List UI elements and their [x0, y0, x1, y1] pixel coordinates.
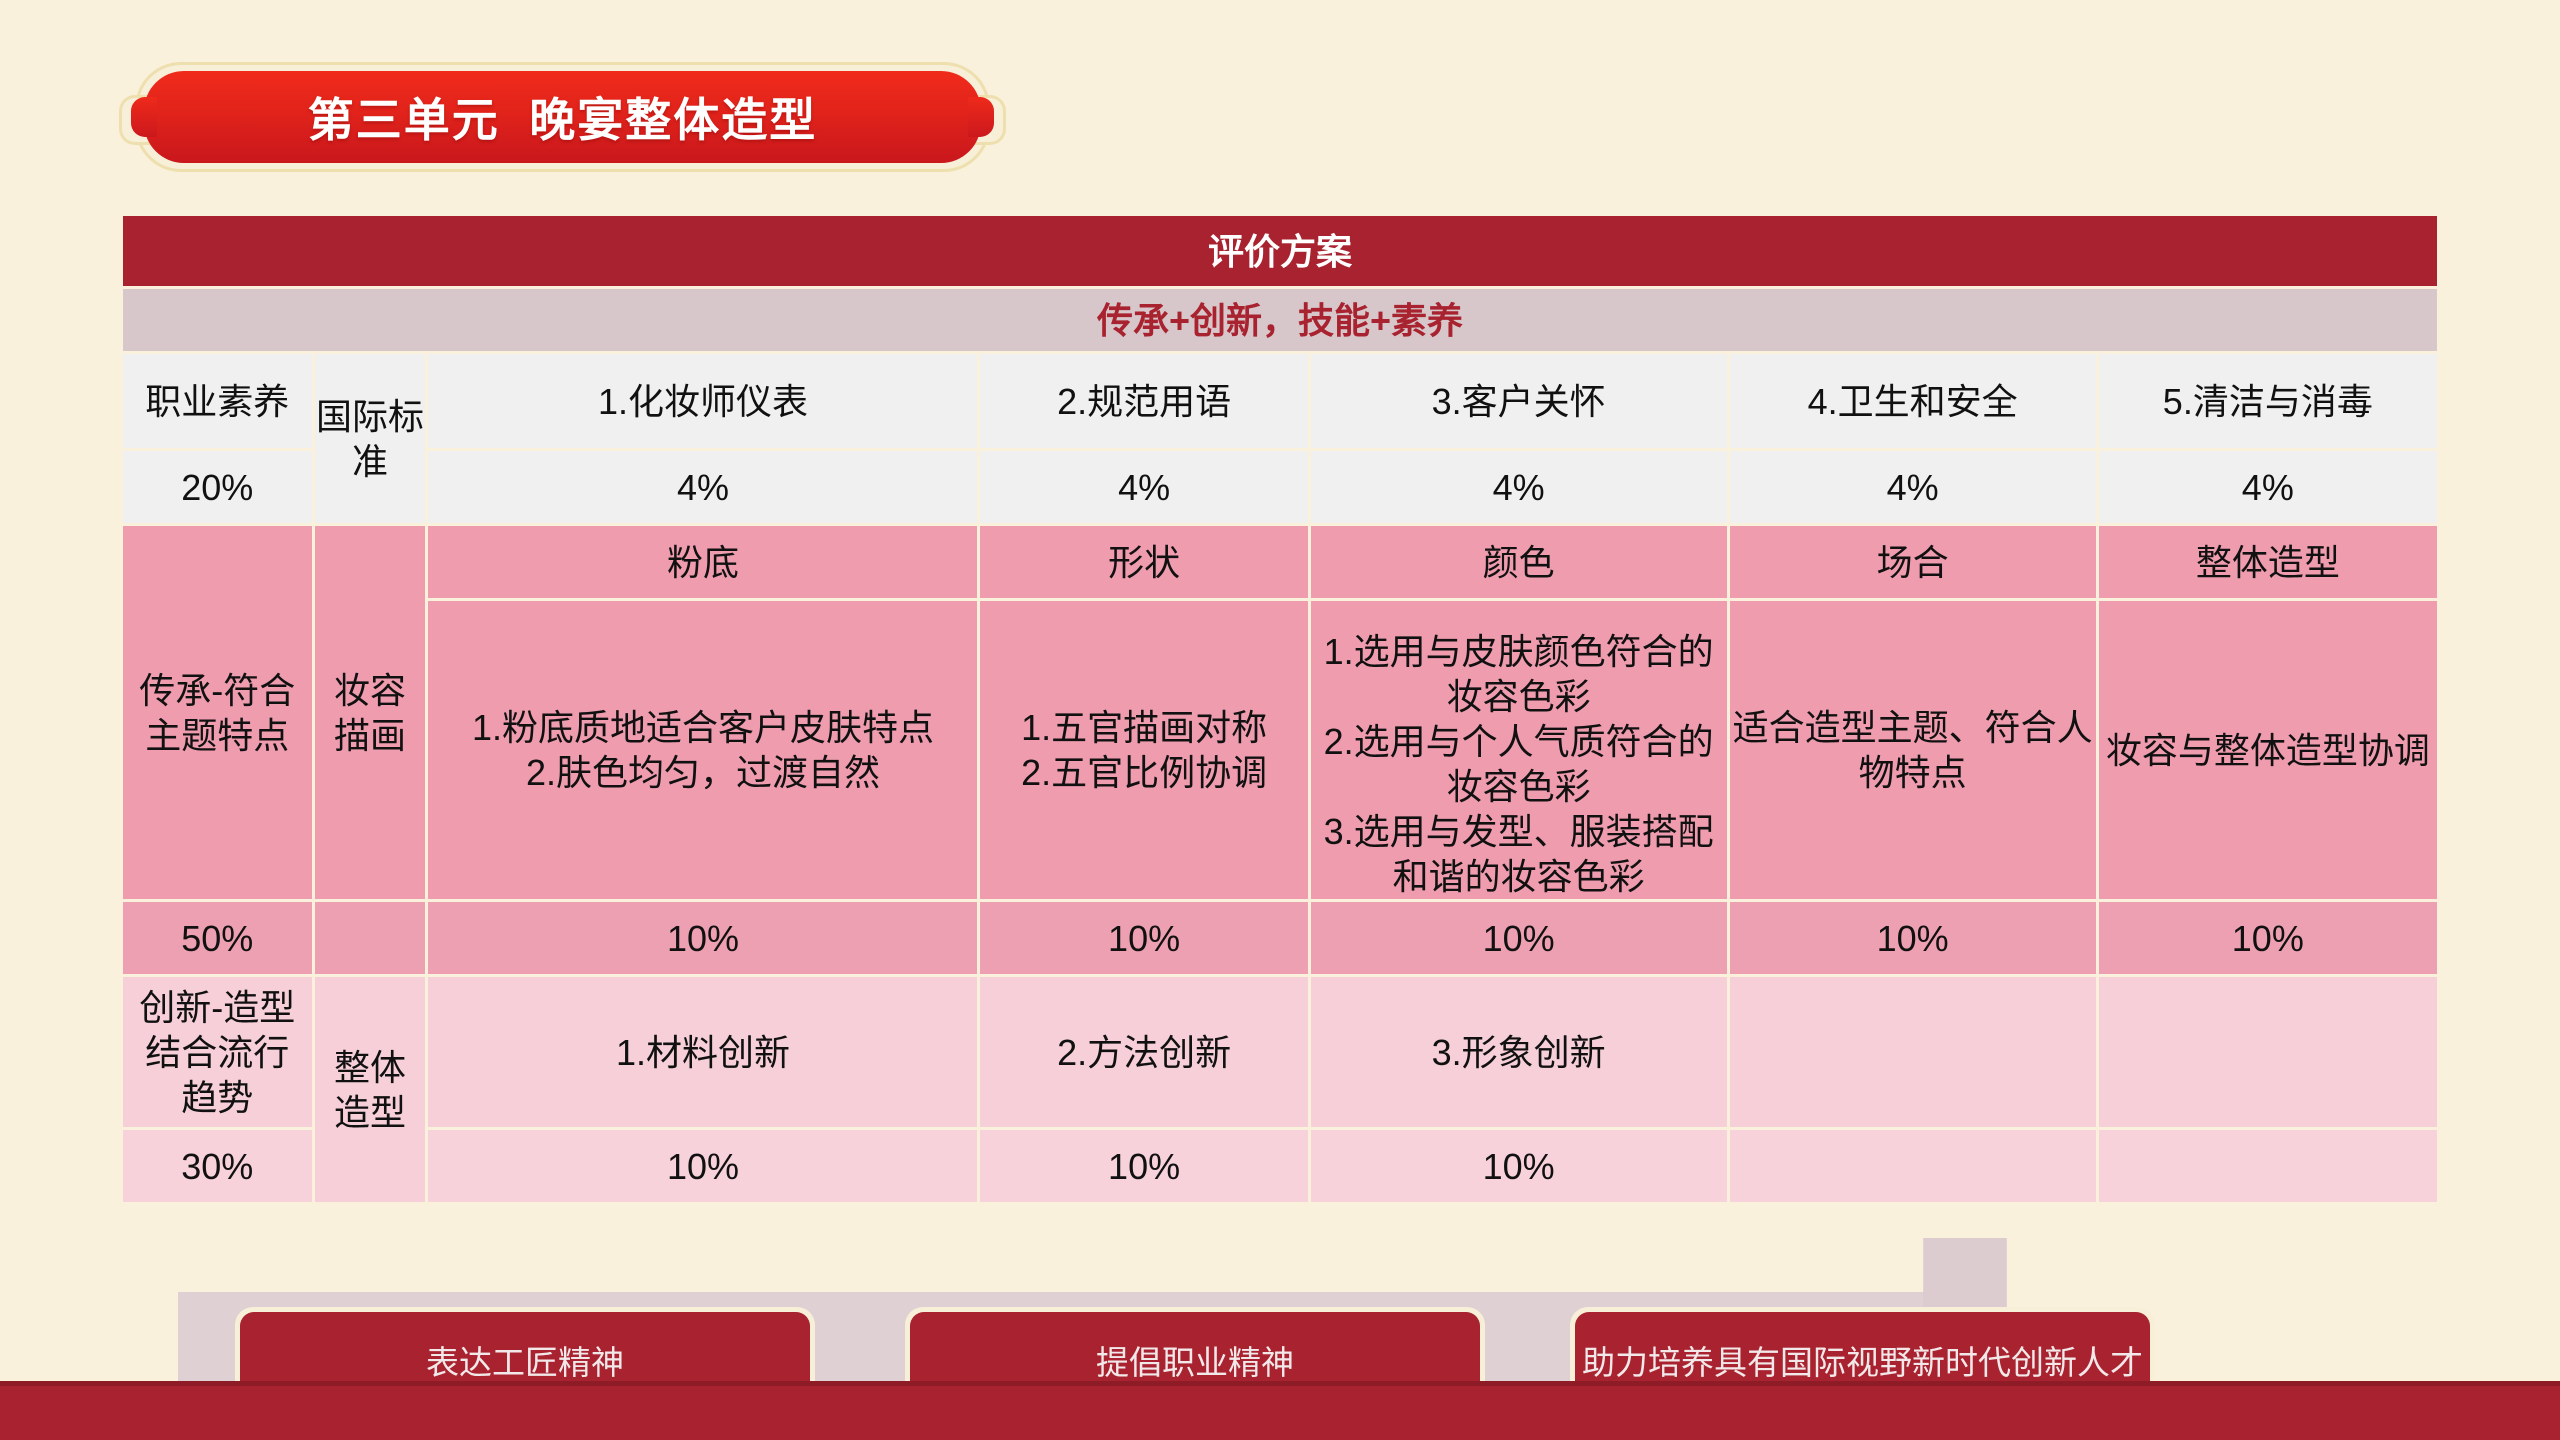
criterion-cell: 2.方法创新: [980, 977, 1307, 1127]
table-row: 30% 10% 10% 10%: [123, 1130, 2437, 1202]
table-title-row: 评价方案: [123, 216, 2437, 286]
criterion-weight: 4%: [2099, 451, 2437, 523]
criterion-weight: 10%: [428, 902, 977, 974]
section-name-line1: 传承-符合: [123, 668, 312, 713]
unit-title-banner: 第三单元 晚宴整体造型: [135, 62, 990, 172]
section-name-professional: 职业素养: [123, 354, 312, 448]
criterion-cell: 5.清洁与消毒: [2099, 354, 2437, 448]
criterion-weight: 10%: [428, 1130, 977, 1202]
standard-label-international: 国际标准: [315, 354, 426, 523]
criterion-cell: 4.卫生和安全: [1730, 354, 2096, 448]
criterion-header: 颜色: [1311, 526, 1727, 598]
criterion-weight: 4%: [980, 451, 1307, 523]
criterion-weight: 10%: [980, 1130, 1307, 1202]
section-weight: 30%: [123, 1130, 312, 1202]
table-title: 评价方案: [123, 216, 2437, 286]
criterion-cell: 2.规范用语: [980, 354, 1307, 448]
table-row: 职业素养 国际标准 1.化妆师仪表 2.规范用语 3.客户关怀 4.卫生和安全 …: [123, 354, 2437, 448]
criterion-cell: 3.客户关怀: [1311, 354, 1727, 448]
table-subtitle: 传承+创新，技能+素养: [123, 289, 2437, 351]
section-name-inheritance: 传承-符合 主题特点: [123, 526, 312, 899]
criterion-header: 粉底: [428, 526, 977, 598]
criterion-detail: 1.粉底质地适合客户皮肤特点2.肤色均匀，过渡自然: [428, 601, 977, 899]
footer-bar: [0, 1386, 2560, 1440]
criterion-header: 形状: [980, 526, 1307, 598]
section-weight: 50%: [123, 902, 312, 974]
criterion-cell: 3.形象创新: [1311, 977, 1727, 1127]
criterion-detail: 1.五官描画对称2.五官比例协调: [980, 601, 1307, 899]
table-row: 传承-符合 主题特点 妆容 描画 粉底 形状 颜色 场合 整体造型: [123, 526, 2437, 598]
section-name-line2: 主题特点: [123, 713, 312, 758]
standard-line1: 妆容: [315, 668, 426, 713]
criterion-header: 整体造型: [2099, 526, 2437, 598]
criterion-weight: 4%: [1730, 451, 2096, 523]
evaluation-table: 评价方案 传承+创新，技能+素养 职业素养 国际标准 1.化妆师仪表 2.规范用…: [120, 213, 2440, 1205]
banner-title-text: 第三单元 晚宴整体造型: [144, 71, 981, 163]
spacer-cell: [315, 902, 426, 974]
criterion-weight: 10%: [980, 902, 1307, 974]
criterion-cell: 1.材料创新: [428, 977, 977, 1127]
table-row: 创新-造型 结合流行 趋势 整体 造型 1.材料创新 2.方法创新 3.形象创新: [123, 977, 2437, 1127]
table-row: 50% 10% 10% 10% 10% 10%: [123, 902, 2437, 974]
criterion-weight: 10%: [1730, 902, 2096, 974]
section-name-line2: 结合流行: [123, 1030, 312, 1075]
criterion-weight: [2099, 1130, 2437, 1202]
section-name-innovation: 创新-造型 结合流行 趋势: [123, 977, 312, 1127]
criterion-weight: [1730, 1130, 2096, 1202]
standard-label-overall: 整体 造型: [315, 977, 426, 1202]
criterion-weight: 10%: [1311, 902, 1727, 974]
criterion-detail: 妆容与整体造型协调: [2099, 601, 2437, 899]
banner-fill: 第三单元 晚宴整体造型: [144, 71, 981, 163]
section-name-line1: 创新-造型: [123, 985, 312, 1030]
criterion-detail: 1.选用与皮肤颜色符合的妆容色彩2.选用与个人气质符合的妆容色彩3.选用与发型、…: [1311, 601, 1727, 899]
section-weight: 20%: [123, 451, 312, 523]
criterion-weight: 10%: [1311, 1130, 1727, 1202]
standard-line2: 造型: [315, 1090, 426, 1135]
criterion-weight: 4%: [1311, 451, 1727, 523]
standard-line1: 整体: [315, 1045, 426, 1090]
criterion-cell: 1.化妆师仪表: [428, 354, 977, 448]
criterion-header: 场合: [1730, 526, 2096, 598]
table-subtitle-row: 传承+创新，技能+素养: [123, 289, 2437, 351]
criterion-detail: 适合造型主题、符合人物特点: [1730, 601, 2096, 899]
criterion-cell: [2099, 977, 2437, 1127]
criterion-cell: [1730, 977, 2096, 1127]
table-row: 1.粉底质地适合客户皮肤特点2.肤色均匀，过渡自然 1.五官描画对称2.五官比例…: [123, 601, 2437, 899]
criterion-weight: 4%: [428, 451, 977, 523]
standard-label-makeup: 妆容 描画: [315, 526, 426, 899]
evaluation-table-wrapper: 评价方案 传承+创新，技能+素养 职业素养 国际标准 1.化妆师仪表 2.规范用…: [120, 213, 2440, 1205]
section-name-line3: 趋势: [123, 1075, 312, 1120]
criterion-weight: 10%: [2099, 902, 2437, 974]
standard-text: 国际标准: [316, 396, 424, 482]
table-row: 20% 4% 4% 4% 4% 4%: [123, 451, 2437, 523]
standard-line2: 描画: [315, 713, 426, 758]
